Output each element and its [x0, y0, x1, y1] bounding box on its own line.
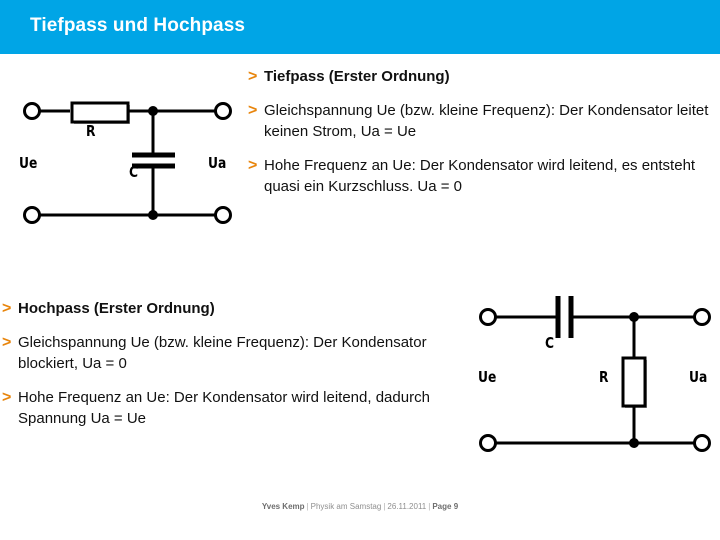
- hochpass-point-2: Hohe Frequenz an Ue: Der Kondensator wir…: [18, 387, 464, 429]
- chevron-bullet-icon: >: [248, 100, 264, 121]
- hochpass-bullet-list: > Hochpass (Erster Ordnung) > Gleichspan…: [2, 298, 464, 442]
- tiefpass-point-1: Gleichspannung Ue (bzw. kleine Frequenz)…: [264, 100, 710, 142]
- terminal-input-bottom: [481, 436, 496, 451]
- list-item: > Hohe Frequenz an Ue: Der Kondensator w…: [2, 387, 464, 429]
- junction-dot-bottom: [148, 210, 158, 220]
- terminal-input-top: [25, 104, 40, 119]
- highpass-svg: [466, 296, 716, 456]
- resistor-body-r: [623, 358, 645, 406]
- chevron-bullet-icon: >: [248, 155, 264, 176]
- page-title: Tiefpass und Hochpass: [30, 15, 245, 37]
- chevron-bullet-icon: >: [2, 332, 18, 353]
- list-item: > Hohe Frequenz an Ue: Der Kondensator w…: [248, 155, 710, 197]
- chevron-bullet-icon: >: [248, 66, 264, 87]
- slide-footer: Yves Kemp|Physik am Samstag|26.11.2011|P…: [0, 502, 720, 511]
- terminal-output-top: [695, 310, 710, 325]
- list-item: > Tiefpass (Erster Ordnung): [248, 66, 710, 87]
- junction-dot-bottom: [629, 438, 639, 448]
- footer-event: Physik am Samstag: [311, 502, 382, 511]
- resistor-label-r: R: [86, 122, 95, 140]
- tiefpass-point-2: Hohe Frequenz an Ue: Der Kondensator wir…: [264, 155, 710, 197]
- chevron-bullet-icon: >: [2, 298, 18, 319]
- output-voltage-label-ua: Ua: [208, 154, 226, 172]
- hochpass-point-1: Gleichspannung Ue (bzw. kleine Frequenz)…: [18, 332, 464, 374]
- input-voltage-label-ue: Ue: [478, 368, 496, 386]
- resistor-label-r: R: [599, 368, 608, 386]
- terminal-output-bottom: [216, 208, 231, 223]
- footer-date: 26.11.2011: [387, 502, 426, 511]
- terminal-output-top: [216, 104, 231, 119]
- list-item: > Gleichspannung Ue (bzw. kleine Frequen…: [248, 100, 710, 142]
- junction-dot-top: [629, 312, 639, 322]
- capacitor-label-c: C: [129, 163, 138, 181]
- circuit-diagram-highpass: C R Ue Ua: [466, 296, 716, 461]
- hochpass-heading: Hochpass (Erster Ordnung): [18, 298, 215, 319]
- footer-author: Yves Kemp: [262, 502, 305, 511]
- list-item: > Gleichspannung Ue (bzw. kleine Frequen…: [2, 332, 464, 374]
- chevron-bullet-icon: >: [2, 387, 18, 408]
- tiefpass-bullet-list: > Tiefpass (Erster Ordnung) > Gleichspan…: [248, 66, 710, 210]
- terminal-output-bottom: [695, 436, 710, 451]
- footer-page-number: Page 9: [432, 502, 458, 511]
- input-voltage-label-ue: Ue: [19, 154, 37, 172]
- tiefpass-heading: Tiefpass (Erster Ordnung): [264, 66, 450, 87]
- circuit-diagram-lowpass: R C Ue Ua: [8, 88, 238, 233]
- junction-dot-top: [148, 106, 158, 116]
- lowpass-svg: [8, 88, 238, 228]
- list-item: > Hochpass (Erster Ordnung): [2, 298, 464, 319]
- capacitor-label-c: C: [545, 334, 554, 352]
- output-voltage-label-ua: Ua: [689, 368, 707, 386]
- terminal-input-bottom: [25, 208, 40, 223]
- terminal-input-top: [481, 310, 496, 325]
- resistor-body-r: [72, 103, 128, 122]
